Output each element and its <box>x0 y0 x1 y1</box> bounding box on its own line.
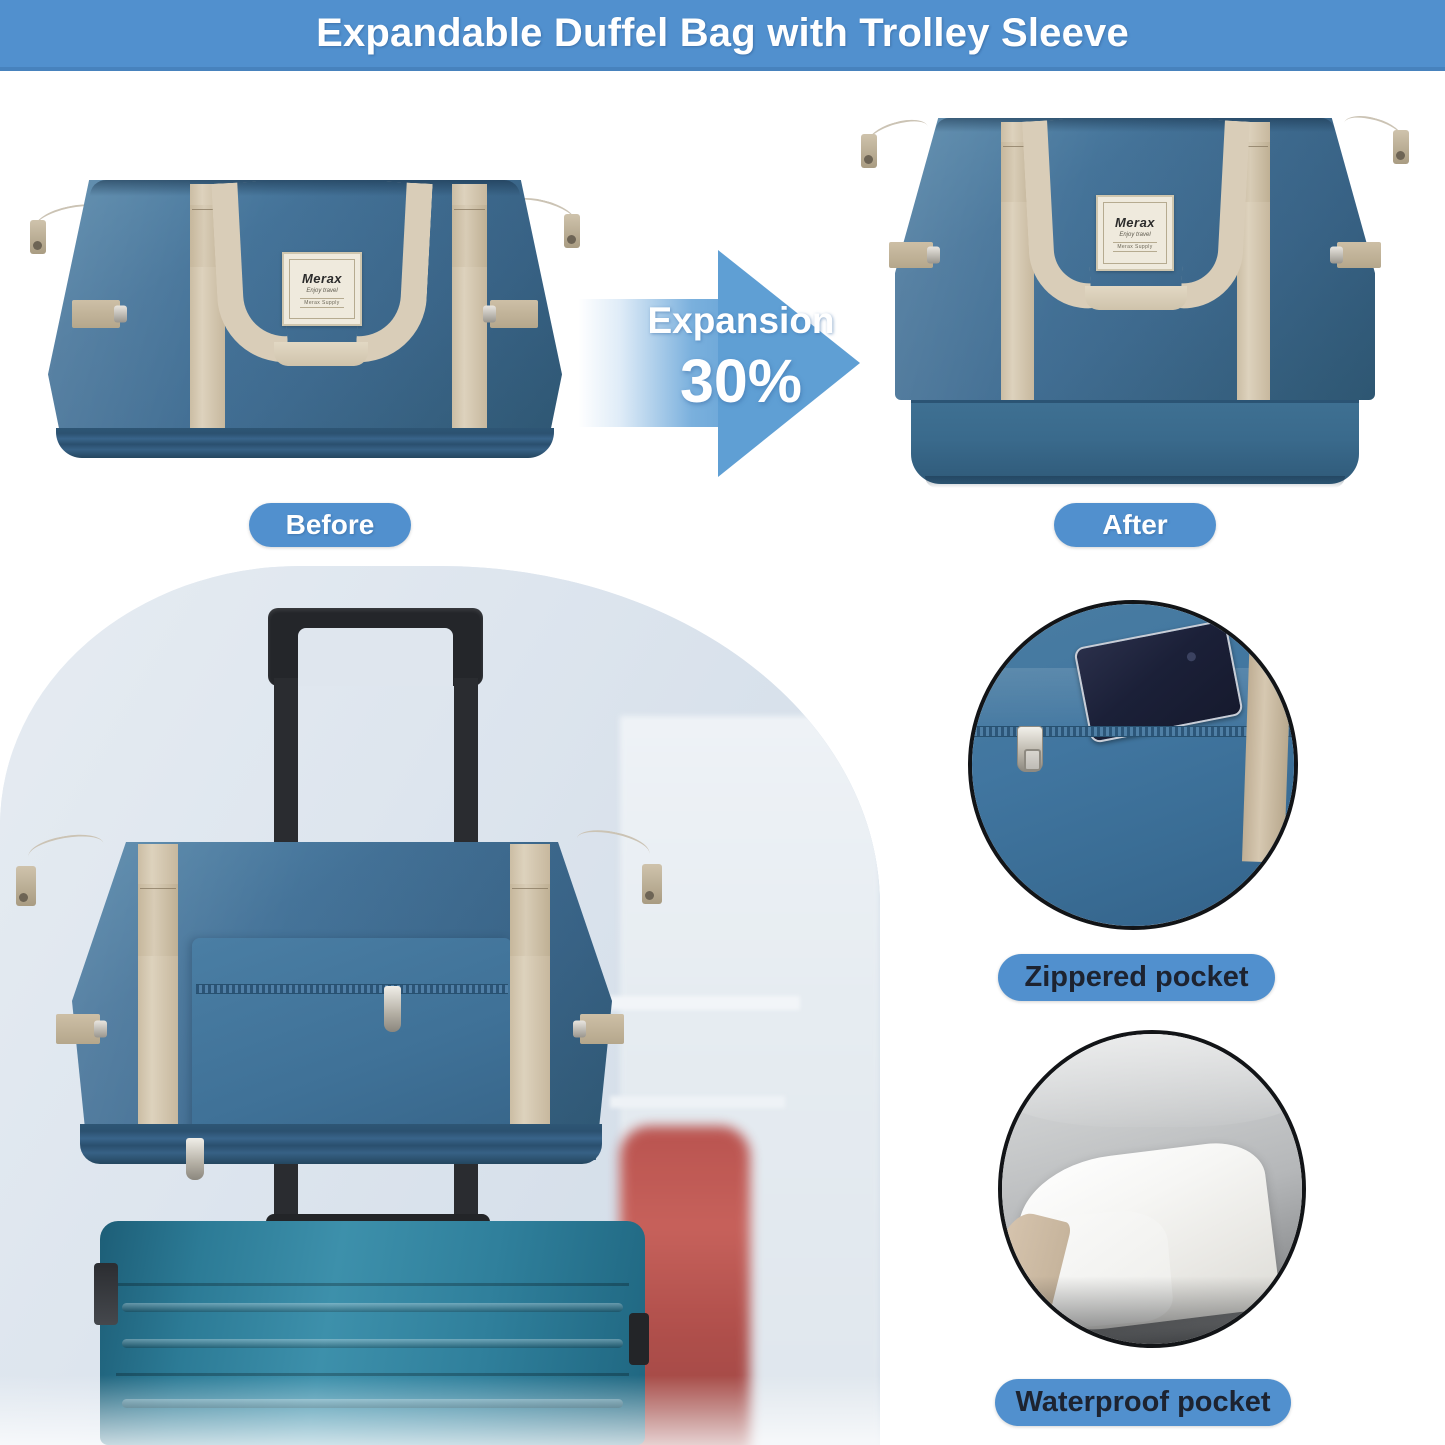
side-buckle-right-icon <box>1330 247 1343 264</box>
side-tab-left <box>889 242 933 268</box>
trolley-sleeve-panel <box>192 938 512 1144</box>
zip-pull-right-icon <box>564 214 580 248</box>
duffel-collapsed-pleat <box>80 1124 602 1164</box>
waterproof-pocket-detail <box>998 1030 1306 1348</box>
label-before: Before <box>249 503 411 547</box>
side-tab-right <box>490 300 538 328</box>
waterproof-inner-shadow <box>1002 1276 1302 1344</box>
side-tab-right <box>1337 242 1381 268</box>
label-zippered-pocket: Zippered pocket <box>998 954 1275 1001</box>
arrow-caption: Expansion <box>636 300 846 342</box>
zip-pull-left-icon <box>861 134 877 168</box>
duffel-bottom-zip-pull-icon <box>186 1138 204 1180</box>
sleeve-zipper-pull-icon <box>384 986 401 1032</box>
arrow-value: 30% <box>636 346 846 416</box>
side-buckle-left-icon <box>927 247 940 264</box>
brand-tagline: Enjoy travel <box>1119 232 1150 238</box>
handle-bridge <box>1085 286 1187 310</box>
suitcase-side-button-icon <box>629 1313 649 1365</box>
suitcase-rib-1 <box>122 1303 623 1312</box>
handle-bridge <box>274 342 368 366</box>
brand-name: Merax <box>302 271 342 286</box>
duffel-buckle-right-icon <box>573 1021 586 1038</box>
arrow-text-group: Expansion 30% <box>578 250 860 477</box>
zip-cord-right-icon <box>574 825 652 868</box>
duffel-side-tab-right <box>580 1014 624 1044</box>
brand-label-patch: Merax Enjoy travel Merax Supply <box>282 252 362 326</box>
duffel-on-trolley <box>10 828 670 1196</box>
side-tab-left <box>72 300 120 328</box>
zippered-pocket-detail <box>968 600 1298 930</box>
luggage-handle-grip-cutout <box>298 628 453 686</box>
zip-pull-right-icon <box>1393 130 1409 164</box>
brand-label-patch: Merax Enjoy travel Merax Supply <box>1096 195 1174 271</box>
side-buckle-right-icon <box>483 306 496 323</box>
brand-sub: Merax Supply <box>300 298 343 308</box>
expanded-bottom-shadow <box>925 476 1345 488</box>
duffel-buckle-left-icon <box>94 1021 107 1038</box>
label-after: After <box>1054 503 1216 547</box>
duffel-strap-left-reinforce <box>138 884 178 956</box>
duffel-strap-right-reinforce <box>510 884 550 956</box>
before-bag-photo: Merax Enjoy travel Merax Supply <box>20 150 590 490</box>
bag-before: Merax Enjoy travel Merax Supply <box>20 150 590 490</box>
brand-label-inner: Merax Enjoy travel Merax Supply <box>1103 202 1167 264</box>
zip-pull-left-icon <box>16 866 36 906</box>
after-bag-photo: Merax Enjoy travel Merax Supply <box>855 100 1415 500</box>
duffel-side-tab-left <box>56 1014 100 1044</box>
zip-pull-right-icon <box>642 864 662 904</box>
suitcase-tsa-lock-icon <box>94 1263 118 1325</box>
side-buckle-left-icon <box>114 306 127 323</box>
waterproof-pocket-rim <box>998 1030 1306 1127</box>
photo-floor-fade <box>0 1375 880 1445</box>
page-title: Expandable Duffel Bag with Trolley Sleev… <box>316 11 1129 56</box>
expansion-arrow: Expansion 30% <box>578 250 860 477</box>
trolley-sleeve-photo <box>0 566 880 1445</box>
brand-sub: Merax Supply <box>1113 242 1156 252</box>
suitcase-groove-1 <box>116 1283 628 1286</box>
strap-right-reinforce <box>452 205 487 267</box>
suitcase-rib-2 <box>122 1339 623 1348</box>
header-banner: Expandable Duffel Bag with Trolley Sleev… <box>0 0 1445 71</box>
bag-after: Merax Enjoy travel Merax Supply <box>855 100 1415 500</box>
brand-label-inner: Merax Enjoy travel Merax Supply <box>289 259 354 319</box>
brand-tagline: Enjoy travel <box>306 288 337 294</box>
bag-top-opening <box>935 118 1335 132</box>
brand-name: Merax <box>1115 215 1155 230</box>
sleeve-zipper-line <box>196 984 508 994</box>
expanded-bottom-compartment <box>911 400 1359 484</box>
pocket-zipper-pull-icon <box>1017 726 1043 772</box>
label-waterproof-pocket: Waterproof pocket <box>995 1379 1291 1426</box>
pocket-adjacent-strap <box>1242 629 1292 862</box>
zip-cord-left-icon <box>26 830 106 871</box>
bag-collapsed-pleat <box>56 428 554 458</box>
zip-pull-left-icon <box>30 220 46 254</box>
infographic-canvas: Expandable Duffel Bag with Trolley Sleev… <box>0 0 1445 1445</box>
